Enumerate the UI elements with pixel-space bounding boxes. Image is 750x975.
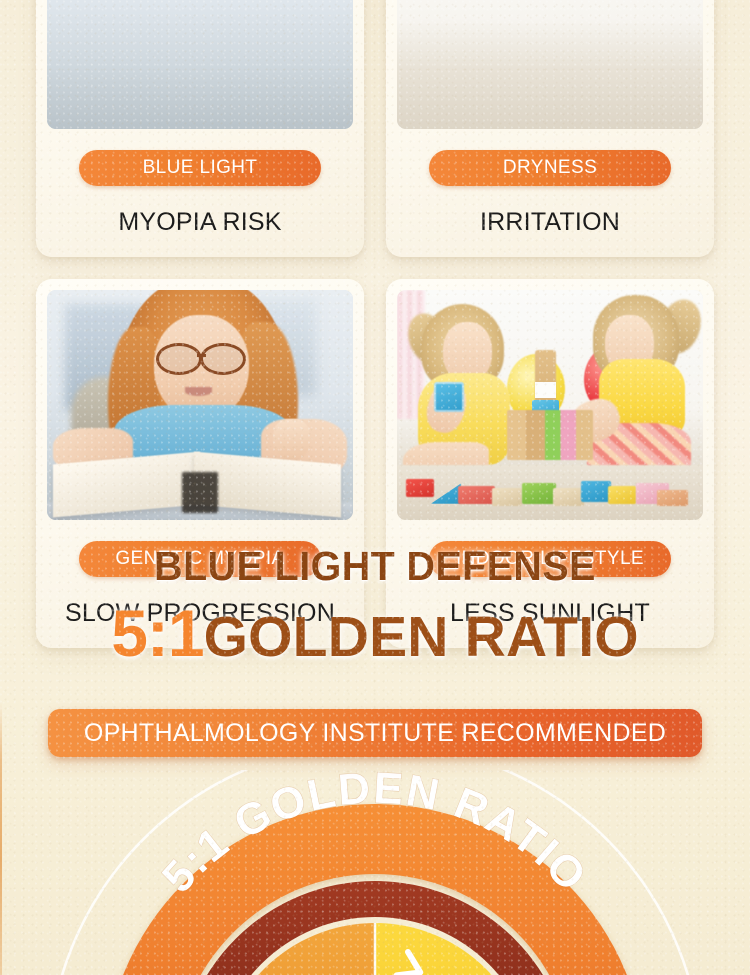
- headline-block: BLUE LIGHT DEFENSE 5:1GOLDEN RATIO: [0, 546, 750, 666]
- risk-card-dryness[interactable]: DRYNESS IRRITATION: [386, 0, 714, 257]
- dryness-photo: [397, 0, 703, 129]
- recommendation-banner: OPHTHALMOLOGY INSTITUTE RECOMMENDED: [48, 709, 702, 757]
- risk-card-badge: BLUE LIGHT: [79, 150, 321, 186]
- risk-card-subtitle: IRRITATION: [480, 208, 620, 237]
- risk-card-badge: DRYNESS: [429, 150, 671, 186]
- risk-card-blue-light[interactable]: BLUE LIGHT MYOPIA RISK: [36, 0, 364, 257]
- headline-primary: BLUE LIGHT DEFENSE: [15, 546, 735, 587]
- girl-reading-book-photo: [47, 290, 353, 520]
- golden-ratio-label: GOLDEN RATIO: [204, 605, 639, 669]
- golden-ratio-value: 5:1: [111, 596, 203, 670]
- left-edge-accent-line: [0, 0, 2, 975]
- risk-card-subtitle: MYOPIA RISK: [118, 208, 281, 237]
- blue-light-photo: [47, 0, 353, 129]
- children-playing-blocks-photo: [397, 290, 703, 520]
- golden-ratio-gauge: 5:1 GOLDEN RATIO: [0, 770, 750, 975]
- headline-secondary: 5:1GOLDEN RATIO: [0, 600, 750, 666]
